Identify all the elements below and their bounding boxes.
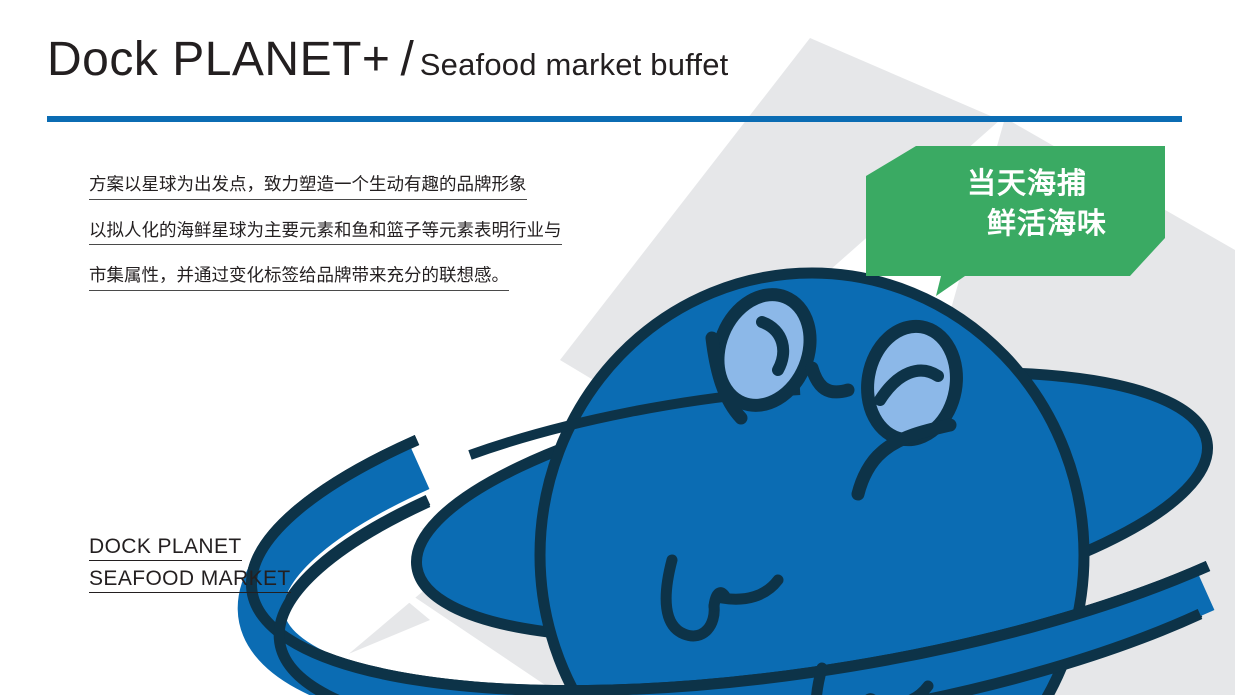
title-subtitle: Seafood market buffet <box>420 47 729 82</box>
callout-bubble-shape <box>866 146 1165 296</box>
slide-canvas: 当天海捕 鲜活海味 Dock PLANET+/Seafood market bu… <box>0 0 1235 695</box>
page-title: Dock PLANET+/Seafood market buffet <box>47 36 728 84</box>
body-line: 以拟人化的海鲜星球为主要元素和鱼和篮子等元素表明行业与 <box>89 222 562 246</box>
wordmark-line: SEAFOOD MARKET <box>89 568 291 593</box>
wordmark-row: DOCK PLANET <box>89 536 291 568</box>
brand-wordmark: DOCK PLANET SEAFOOD MARKET <box>89 536 291 600</box>
body-row: 以拟人化的海鲜星球为主要元素和鱼和篮子等元素表明行业与 <box>89 222 689 268</box>
body-row: 方案以星球为出发点，致力塑造一个生动有趣的品牌形象 <box>89 176 689 222</box>
body-copy: 方案以星球为出发点，致力塑造一个生动有趣的品牌形象 以拟人化的海鲜星球为主要元素… <box>89 176 689 313</box>
title-main: Dock PLANET+ <box>47 33 390 86</box>
body-row: 市集属性，并通过变化标签给品牌带来充分的联想感。 <box>89 267 689 313</box>
title-separator: / <box>390 33 419 86</box>
body-line: 市集属性，并通过变化标签给品牌带来充分的联想感。 <box>89 267 509 291</box>
wordmark-line: DOCK PLANET <box>89 536 242 561</box>
header-divider <box>47 116 1182 122</box>
wordmark-row: SEAFOOD MARKET <box>89 568 291 600</box>
body-line: 方案以星球为出发点，致力塑造一个生动有趣的品牌形象 <box>89 176 527 200</box>
